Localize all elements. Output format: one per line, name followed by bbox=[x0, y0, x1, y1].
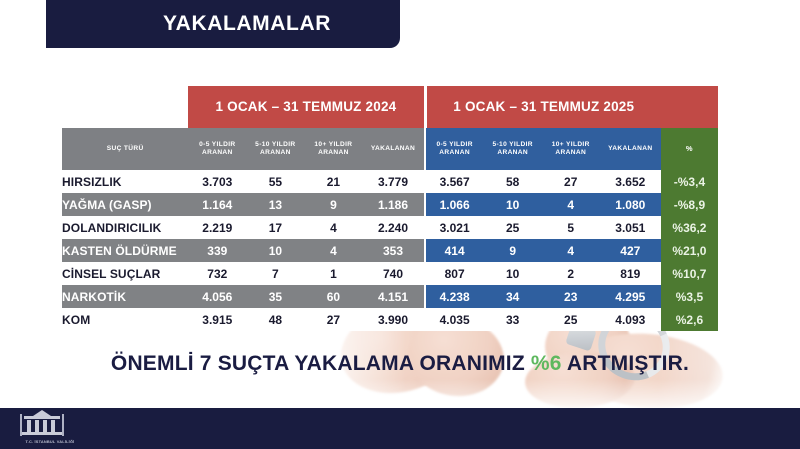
cell-percent-6: %2,6 bbox=[661, 308, 718, 331]
column-header-row: SUÇ TÜRÜ 0-5 YILDIR ARANAN 5-10 YILDIR A… bbox=[62, 128, 718, 170]
table-row: YAĞMA (GASP)1.1641391.1861.0661041.080-%… bbox=[62, 193, 718, 216]
col-header-crime-type: SUÇ TÜRÜ bbox=[62, 128, 188, 170]
cell-2024-0-5-5: 4.056 bbox=[188, 285, 246, 308]
cell-2024-0-5-3: 339 bbox=[188, 239, 246, 262]
cell-2025-caught-2: 3.051 bbox=[600, 216, 661, 239]
cell-percent-1: -%8,9 bbox=[661, 193, 718, 216]
cell-2025-5-10-5: 34 bbox=[484, 285, 542, 308]
cell-2024-10plus-6: 27 bbox=[304, 308, 362, 331]
cell-2024-5-10-0: 55 bbox=[246, 170, 304, 193]
cell-2025-10plus-3: 4 bbox=[542, 239, 600, 262]
cell-2024-0-5-2: 2.219 bbox=[188, 216, 246, 239]
cell-2024-caught-5: 4.151 bbox=[362, 285, 423, 308]
col-header-2024-caught: YAKALANAN bbox=[362, 128, 423, 170]
cell-2025-caught-1: 1.080 bbox=[600, 193, 661, 216]
cell-2025-5-10-4: 10 bbox=[484, 262, 542, 285]
cell-2024-10plus-4: 1 bbox=[304, 262, 362, 285]
period-spacer bbox=[62, 86, 188, 128]
cell-2024-5-10-2: 17 bbox=[246, 216, 304, 239]
col-header-2025-caught: YAKALANAN bbox=[600, 128, 661, 170]
cell-2024-5-10-5: 35 bbox=[246, 285, 304, 308]
cell-2024-10plus-5: 60 bbox=[304, 285, 362, 308]
cell-2025-caught-3: 427 bbox=[600, 239, 661, 262]
cell-2024-caught-0: 3.779 bbox=[362, 170, 423, 193]
cell-2024-caught-2: 2.240 bbox=[362, 216, 423, 239]
cell-2024-10plus-2: 4 bbox=[304, 216, 362, 239]
cell-2025-10plus-6: 25 bbox=[542, 308, 600, 331]
cell-2025-caught-5: 4.295 bbox=[600, 285, 661, 308]
row-label-1: YAĞMA (GASP) bbox=[62, 193, 188, 216]
cell-2025-5-10-6: 33 bbox=[484, 308, 542, 331]
cell-2024-5-10-4: 7 bbox=[246, 262, 304, 285]
cell-2025-0-5-0: 3.567 bbox=[426, 170, 484, 193]
cell-2025-10plus-2: 5 bbox=[542, 216, 600, 239]
cell-2025-10plus-1: 4 bbox=[542, 193, 600, 216]
cell-2025-5-10-0: 58 bbox=[484, 170, 542, 193]
row-label-2: DOLANDIRICILIK bbox=[62, 216, 188, 239]
headline-banner: ÖNEMLİ 7 SUÇTA YAKALAMA ORANIMIZ %6 ARTM… bbox=[0, 352, 800, 376]
period-2024-label: 1 OCAK – 31 TEMMUZ 2024 bbox=[188, 86, 423, 128]
page-title: YAKALAMALAR bbox=[46, 0, 400, 48]
cell-2024-0-5-0: 3.703 bbox=[188, 170, 246, 193]
headline-prefix: ÖNEMLİ 7 SUÇTA YAKALAMA ORANIMIZ bbox=[111, 352, 531, 375]
cell-2025-10plus-4: 2 bbox=[542, 262, 600, 285]
logo-caption: T.C. İSTANBUL VALİLİĞİ bbox=[20, 439, 80, 444]
col-header-percent: % bbox=[661, 128, 718, 170]
cell-2024-0-5-4: 732 bbox=[188, 262, 246, 285]
cell-percent-3: %21,0 bbox=[661, 239, 718, 262]
headline-accent-value: %6 bbox=[531, 352, 562, 375]
table-row: KOM3.91548273.9904.03533254.093%2,6 bbox=[62, 308, 718, 331]
cell-2024-caught-6: 3.990 bbox=[362, 308, 423, 331]
cell-2024-0-5-6: 3.915 bbox=[188, 308, 246, 331]
captures-table-body: HIRSIZLIK3.70355213.7793.56758273.652-%3… bbox=[62, 170, 718, 331]
col-header-2024-5-10: 5-10 YILDIR ARANAN bbox=[246, 128, 304, 170]
period-percent-spacer bbox=[661, 86, 718, 128]
cell-percent-2: %36,2 bbox=[661, 216, 718, 239]
period-header-row: 1 OCAK – 31 TEMMUZ 2024 1 OCAK – 31 TEMM… bbox=[62, 86, 718, 128]
period-2025-label: 1 OCAK – 31 TEMMUZ 2025 bbox=[426, 86, 661, 128]
table-row: DOLANDIRICILIK2.2191742.2403.0212553.051… bbox=[62, 216, 718, 239]
row-label-6: KOM bbox=[62, 308, 188, 331]
row-label-4: CİNSEL SUÇLAR bbox=[62, 262, 188, 285]
row-label-5: NARKOTİK bbox=[62, 285, 188, 308]
cell-2024-5-10-1: 13 bbox=[246, 193, 304, 216]
cell-2025-5-10-1: 10 bbox=[484, 193, 542, 216]
cell-2025-10plus-5: 23 bbox=[542, 285, 600, 308]
col-header-2024-10plus: 10+ YILDIR ARANAN bbox=[304, 128, 362, 170]
table-row: HIRSIZLIK3.70355213.7793.56758273.652-%3… bbox=[62, 170, 718, 193]
cell-percent-5: %3,5 bbox=[661, 285, 718, 308]
cell-percent-4: %10,7 bbox=[661, 262, 718, 285]
col-header-2025-0-5: 0-5 YILDIR ARANAN bbox=[426, 128, 484, 170]
table-row: CİNSEL SUÇLAR73271740807102819%10,7 bbox=[62, 262, 718, 285]
cell-2025-5-10-3: 9 bbox=[484, 239, 542, 262]
cell-2024-10plus-1: 9 bbox=[304, 193, 362, 216]
cell-2025-0-5-6: 4.035 bbox=[426, 308, 484, 331]
col-header-2025-5-10: 5-10 YILDIR ARANAN bbox=[484, 128, 542, 170]
cell-2024-10plus-0: 21 bbox=[304, 170, 362, 193]
cell-2025-5-10-2: 25 bbox=[484, 216, 542, 239]
headline-suffix: ARTMIŞTIR. bbox=[562, 352, 689, 375]
cell-2024-5-10-3: 10 bbox=[246, 239, 304, 262]
governorship-logo: T.C. İSTANBUL VALİLİĞİ bbox=[20, 410, 80, 448]
col-header-2025-10plus: 10+ YILDIR ARANAN bbox=[542, 128, 600, 170]
cell-2024-10plus-3: 4 bbox=[304, 239, 362, 262]
slide-root: YAKALAMALAR 1 OCAK – 31 TEMMUZ 2024 1 OC… bbox=[0, 0, 800, 449]
cell-2024-caught-1: 1.186 bbox=[362, 193, 423, 216]
cell-2025-caught-4: 819 bbox=[600, 262, 661, 285]
table-row: KASTEN ÖLDÜRME33910435341494427%21,0 bbox=[62, 239, 718, 262]
cell-2024-caught-4: 740 bbox=[362, 262, 423, 285]
cell-2025-0-5-1: 1.066 bbox=[426, 193, 484, 216]
cell-percent-0: -%3,4 bbox=[661, 170, 718, 193]
captures-table: 1 OCAK – 31 TEMMUZ 2024 1 OCAK – 31 TEMM… bbox=[62, 86, 718, 331]
cell-2025-0-5-3: 414 bbox=[426, 239, 484, 262]
cell-2025-caught-0: 3.652 bbox=[600, 170, 661, 193]
cell-2025-0-5-5: 4.238 bbox=[426, 285, 484, 308]
footer-bar bbox=[0, 408, 800, 449]
col-header-2024-0-5: 0-5 YILDIR ARANAN bbox=[188, 128, 246, 170]
row-label-0: HIRSIZLIK bbox=[62, 170, 188, 193]
cell-2025-0-5-2: 3.021 bbox=[426, 216, 484, 239]
cell-2024-5-10-6: 48 bbox=[246, 308, 304, 331]
page-title-label: YAKALAMALAR bbox=[115, 12, 331, 36]
cell-2025-caught-6: 4.093 bbox=[600, 308, 661, 331]
cell-2024-caught-3: 353 bbox=[362, 239, 423, 262]
cell-2025-10plus-0: 27 bbox=[542, 170, 600, 193]
captures-table-wrapper: 1 OCAK – 31 TEMMUZ 2024 1 OCAK – 31 TEMM… bbox=[62, 86, 718, 331]
row-label-3: KASTEN ÖLDÜRME bbox=[62, 239, 188, 262]
cell-2025-0-5-4: 807 bbox=[426, 262, 484, 285]
table-row: NARKOTİK4.05635604.1514.23834234.295%3,5 bbox=[62, 285, 718, 308]
cell-2024-0-5-1: 1.164 bbox=[188, 193, 246, 216]
